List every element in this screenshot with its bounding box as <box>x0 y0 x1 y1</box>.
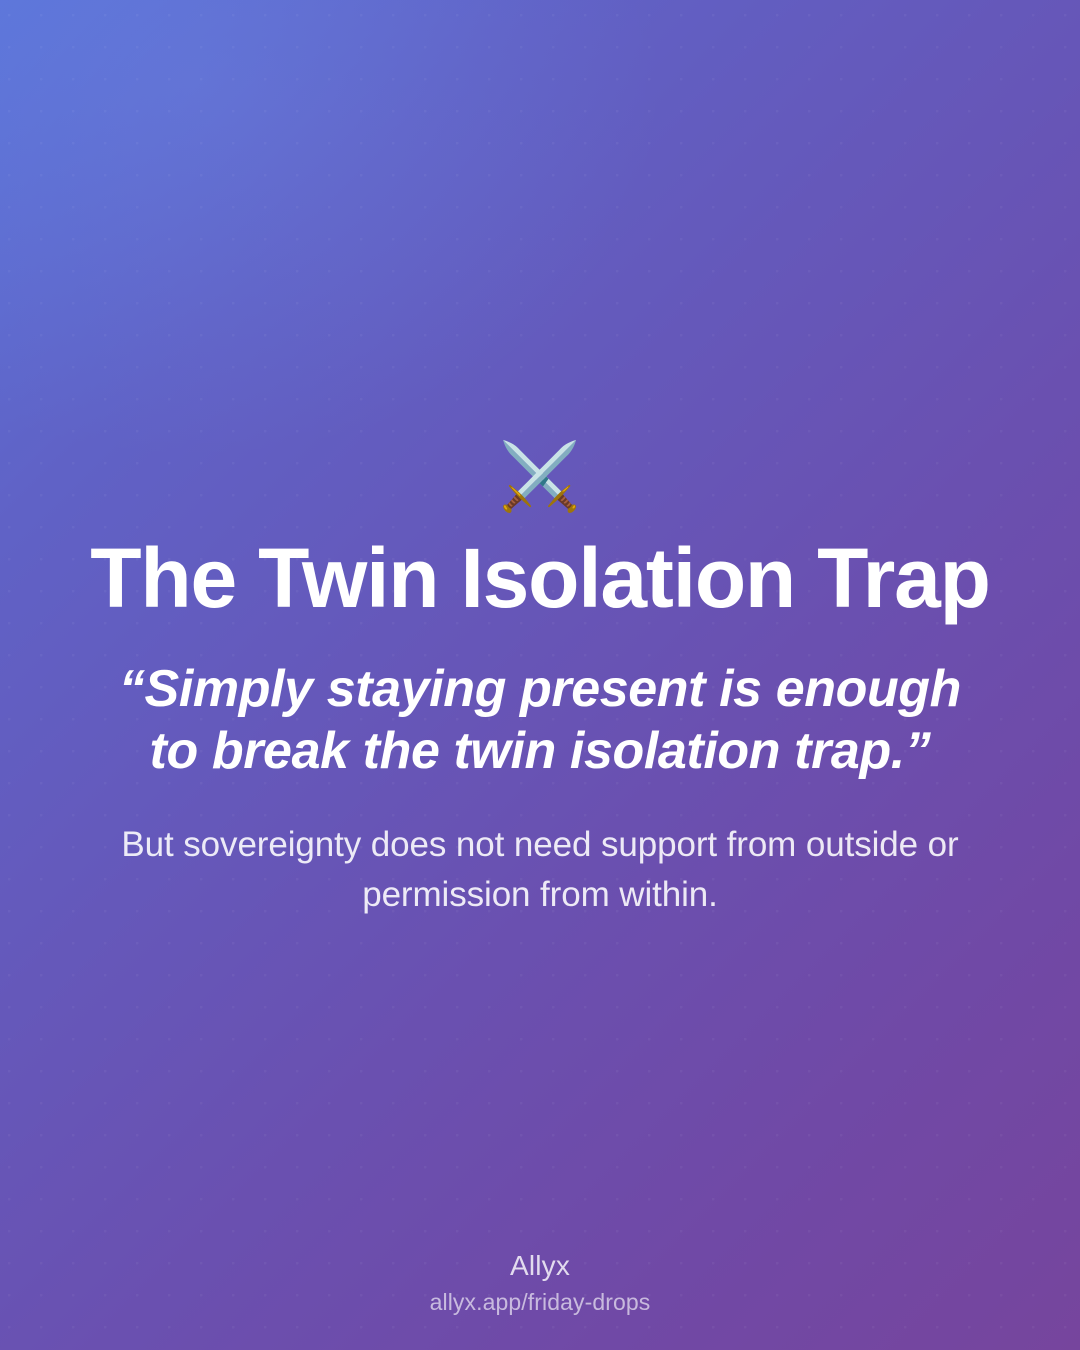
footer: Allyx allyx.app/friday-drops <box>0 1248 1080 1318</box>
footer-brand-name: Allyx <box>0 1248 1080 1285</box>
footer-url[interactable]: allyx.app/friday-drops <box>0 1287 1080 1318</box>
pull-quote: “Simply staying present is enough to bre… <box>96 658 984 783</box>
page-title: The Twin Isolation Trap <box>60 536 1020 620</box>
crossed-swords-icon: ⚔️ <box>0 444 1080 510</box>
quote-card: ⚔️ The Twin Isolation Trap “Simply stayi… <box>0 0 1080 1350</box>
body-text: But sovereignty does not need support fr… <box>104 820 976 919</box>
